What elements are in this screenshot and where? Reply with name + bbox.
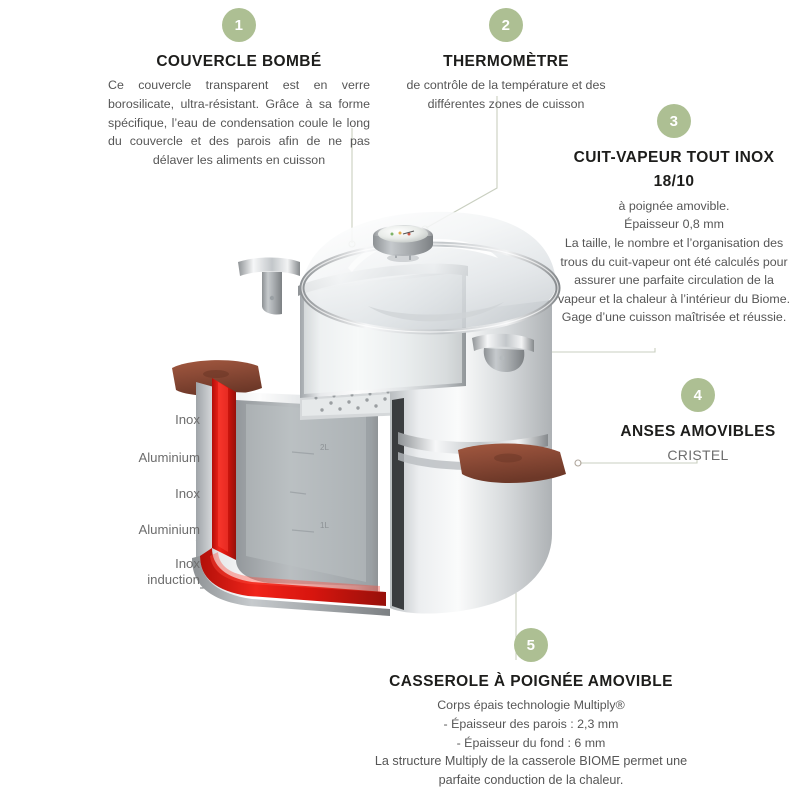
- callout-4-subtitle: CRISTEL: [600, 446, 796, 464]
- callout-4: 4 ANSES AMOVIBLES CRISTEL: [600, 378, 796, 468]
- callout-1-title: COUVERCLE BOMBÉ: [108, 52, 370, 71]
- callout-5-body-line2: - Épaisseur des parois : 2,3 mm: [338, 715, 724, 734]
- layer-label-inox-induction: Inox induction: [90, 556, 200, 588]
- lid-dome: [302, 212, 556, 331]
- layer-label-aluminium-2-text: Aluminium: [90, 522, 200, 538]
- badge-4: 4: [681, 378, 715, 412]
- callout-5-title: CASSEROLE À POIGNÉE AMOVIBLE: [338, 672, 724, 691]
- final-note: La structure Multiply de la casserole BI…: [358, 752, 704, 790]
- callout-3-title: CUIT-VAPEUR TOUT INOX: [556, 148, 792, 167]
- side-handle-right: [458, 444, 566, 484]
- steamer-bracket-left: [238, 258, 300, 315]
- glass-lid: [302, 212, 558, 332]
- svg-text:2L: 2L: [320, 443, 329, 452]
- callout-3-body: à poignée amovible. Épaisseur 0,8 mm La …: [556, 197, 792, 327]
- callout-3-title-line2: 18/10: [556, 172, 792, 191]
- layer-label-inox-1: Inox: [100, 412, 200, 428]
- callout-1: 1 COUVERCLE BOMBÉ Ce couvercle transpare…: [108, 8, 370, 169]
- badge-5: 5: [514, 628, 548, 662]
- callout-5: 5 CASSEROLE À POIGNÉE AMOVIBLE Corps épa…: [338, 628, 724, 752]
- callout-4-title: ANSES AMOVIBLES: [600, 422, 796, 441]
- callout-1-body: Ce couvercle transparent est en verre bo…: [108, 76, 370, 169]
- badge-1: 1: [222, 8, 256, 42]
- callout-3: 3 CUIT-VAPEUR TOUT INOX 18/10 à poignée …: [556, 104, 792, 327]
- badge-3: 3: [657, 104, 691, 138]
- infographic-page: 2L 1L: [0, 0, 800, 800]
- leader-line-2: [426, 96, 497, 228]
- layer-label-inox-induction-line2: induction: [90, 572, 200, 588]
- layer-label-aluminium-1: Aluminium: [90, 450, 200, 466]
- layer-label-inox-2-text: Inox: [100, 486, 200, 502]
- callout-2-title: THERMOMÈTRE: [398, 52, 614, 71]
- callout-2: 2 THERMOMÈTRE de contrôle de la températ…: [398, 8, 614, 114]
- layer-label-inox-2: Inox: [100, 486, 200, 502]
- callout-5-body-line1: Corps épais technologie Multiply®: [338, 696, 724, 715]
- svg-text:1L: 1L: [320, 521, 329, 530]
- callout-5-body-line3: - Épaisseur du fond : 6 mm: [338, 734, 724, 753]
- layer-label-aluminium-1-text: Aluminium: [90, 450, 200, 466]
- layer-label-aluminium-2: Aluminium: [90, 522, 200, 538]
- layer-label-inox-induction-line1: Inox: [90, 556, 200, 572]
- layer-label-inox-1-text: Inox: [100, 412, 200, 428]
- badge-2: 2: [489, 8, 523, 42]
